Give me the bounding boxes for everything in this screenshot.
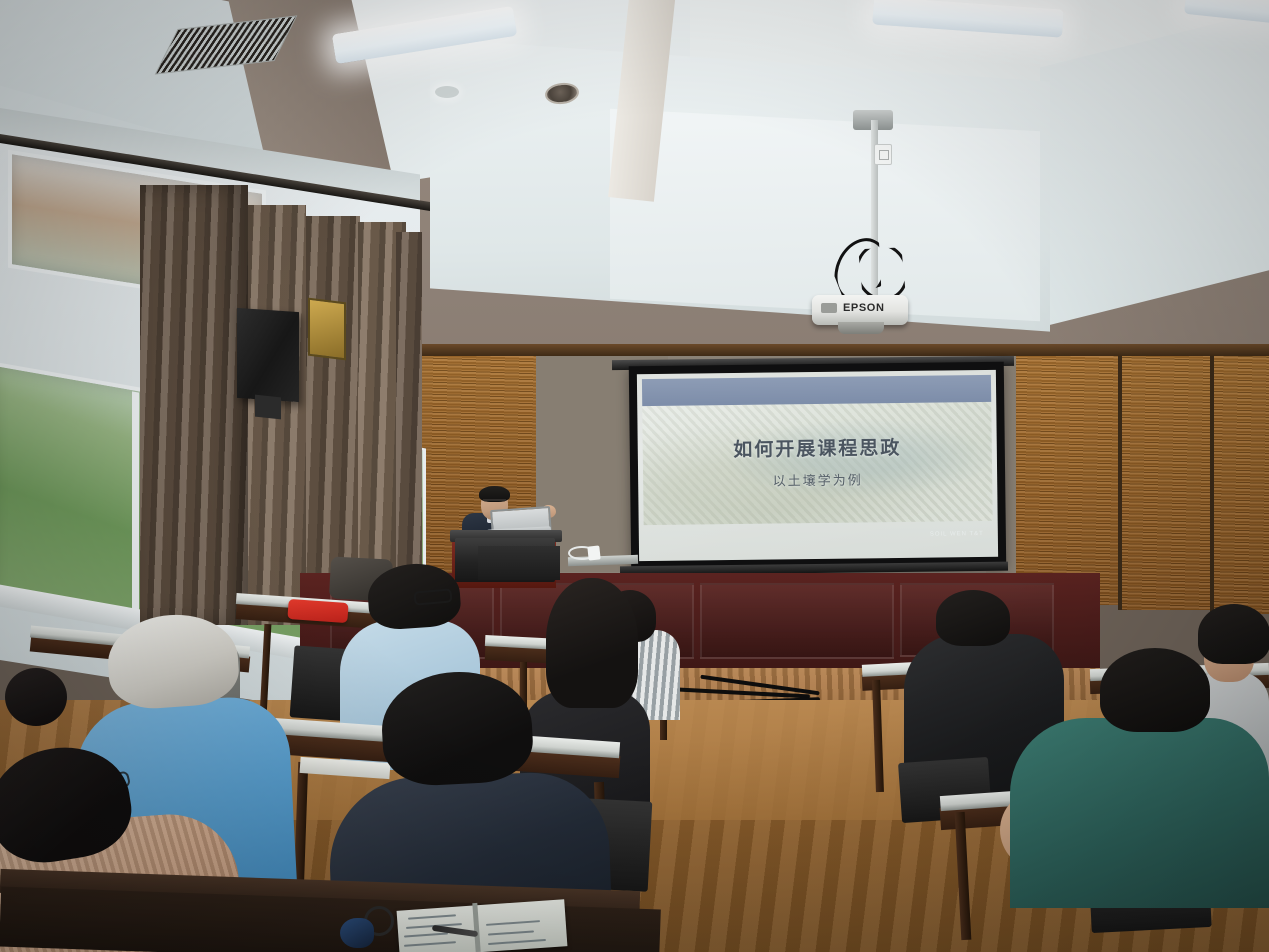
podium-front — [478, 546, 560, 580]
window-mullion — [132, 391, 139, 637]
curtain-panel-5[interactable] — [396, 232, 422, 572]
man-black-polo-head — [936, 590, 1010, 646]
curtain-panel-1[interactable] — [140, 185, 248, 625]
wood-slat-panel-right-2 — [1120, 352, 1212, 610]
wall-panel-divider-1 — [1118, 352, 1122, 610]
slide-top-band — [642, 375, 991, 406]
wall-speaker-icon — [237, 308, 299, 402]
ceiling-panel-inner-2 — [610, 109, 1040, 322]
ceiling-light-small — [435, 86, 459, 98]
man-gray-shirt-hair — [1198, 604, 1269, 664]
projector-lens-icon — [838, 322, 884, 334]
wood-slat-panel-right-3 — [1212, 352, 1269, 614]
wood-slat-panel-right-1 — [1016, 355, 1120, 605]
wall-socket-icon[interactable] — [874, 144, 892, 165]
man-teal-polo-head — [1100, 648, 1210, 732]
classroom-scene: EPSON 如何开展课程思政 以土壤学为例 SOIL WEN T&T — [0, 0, 1269, 952]
woman-black-top-hair — [546, 578, 638, 708]
wainscot-panel-3 — [700, 583, 894, 659]
screen-surface: 如何开展课程思政 以土壤学为例 SOIL WEN T&T — [637, 370, 998, 561]
projector-badge — [821, 303, 837, 313]
slide-title: 如何开展课程思政 — [638, 432, 997, 463]
wall-panel-divider-2 — [1210, 352, 1214, 614]
slide-credit: SOIL WEN T&T — [930, 531, 984, 538]
speaker-bracket — [255, 395, 281, 420]
keys-with-blue-fob[interactable] — [340, 918, 374, 948]
man-teal-polo-body — [1010, 718, 1269, 908]
presenter-glasses-icon — [483, 499, 506, 507]
power-adapter-icon — [587, 545, 600, 560]
red-bag-on-desk[interactable] — [287, 599, 348, 623]
projector-brand-label: EPSON — [843, 302, 885, 314]
slide: 如何开展课程思政 以土壤学为例 SOIL WEN T&T — [637, 370, 998, 561]
woman-tan-knit-hair-bun — [5, 668, 67, 726]
projection-screen[interactable]: 如何开展课程思政 以土壤学为例 SOIL WEN T&T — [629, 362, 1006, 572]
wall-ledge — [330, 344, 1269, 356]
wall-plaque — [308, 298, 346, 361]
